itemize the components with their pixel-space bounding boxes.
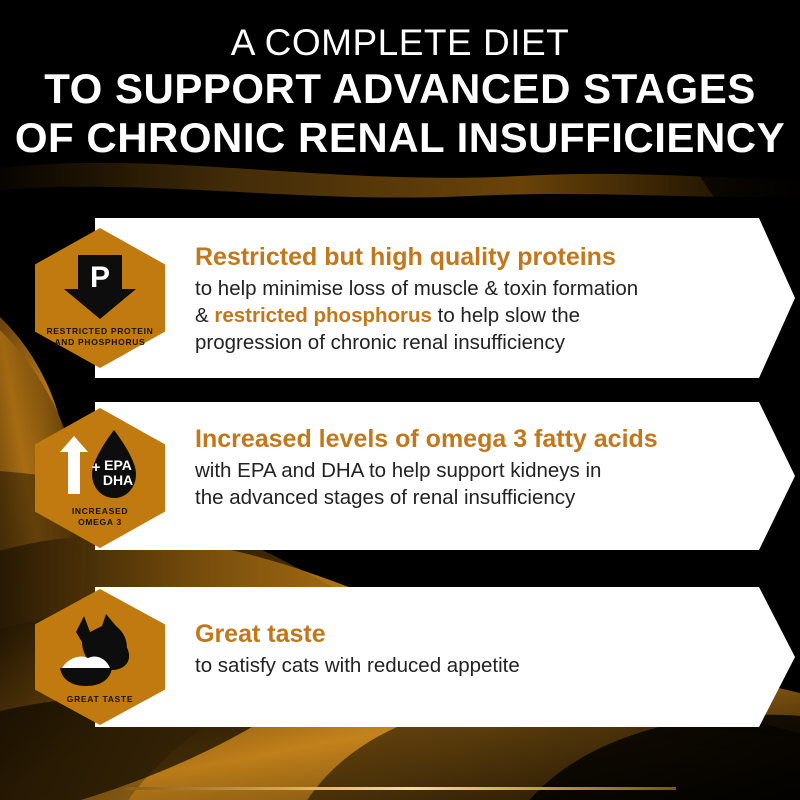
body-line-1: to satisfy cats with reduced appetite xyxy=(195,654,520,677)
badge-restricted-protein-phosphorus: P RESTRICTED PROTEIN AND PHOSPHORUS xyxy=(35,228,165,368)
panel-body: to help minimise loss of muscle & toxin … xyxy=(195,275,715,356)
svg-text:P: P xyxy=(90,261,110,294)
body-line-2-pre: & xyxy=(195,304,214,327)
feature-panel-restricted-protein: P RESTRICTED PROTEIN AND PHOSPHORUS Rest… xyxy=(0,218,800,378)
panel-body: with EPA and DHA to help support kidneys… xyxy=(195,457,735,511)
panel-title: Restricted but high quality proteins xyxy=(195,242,715,273)
body-line-2-accent: restricted phosphorus xyxy=(214,304,432,327)
badge-great-taste: GREAT TASTE xyxy=(35,589,165,725)
body-line-3: the advanced stages of renal insufficien… xyxy=(195,486,575,509)
badge-caption: RESTRICTED PROTEIN AND PHOSPHORUS xyxy=(46,326,153,347)
feature-panel-great-taste: GREAT TASTE Great taste to satisfy cats … xyxy=(0,587,800,727)
increased-omega-3-icon: + EPA DHA xyxy=(52,428,148,502)
badge-caption: GREAT TASTE xyxy=(67,694,133,705)
panel-text-block: Great taste to satisfy cats with reduced… xyxy=(195,619,715,679)
body-line-3: progression of chronic renal insufficien… xyxy=(195,331,565,354)
panel-title: Increased levels of omega 3 fatty acids xyxy=(195,424,735,455)
body-line-1: with EPA and DHA to help support kidneys… xyxy=(195,459,601,482)
panel-text-block: Increased levels of omega 3 fatty acids … xyxy=(195,424,735,511)
great-taste-cat-bowl-icon xyxy=(54,610,146,688)
body-line-2-post: to help slow the xyxy=(432,304,580,327)
page-title: A COMPLETE DIET TO SUPPORT ADVANCED STAG… xyxy=(0,22,800,162)
restricted-protein-phosphorus-icon: P xyxy=(58,249,142,321)
feature-panel-omega-3: + EPA DHA INCREASED OMEGA 3 Increased le… xyxy=(0,402,800,550)
panel-body: to satisfy cats with reduced appetite xyxy=(195,652,715,679)
title-line-2: TO SUPPORT ADVANCED STAGES xyxy=(0,65,800,114)
renal-diet-infographic: A COMPLETE DIET TO SUPPORT ADVANCED STAG… xyxy=(0,0,800,800)
title-line-3: OF CHRONIC RENAL INSUFFICIENCY xyxy=(0,114,800,163)
badge-increased-omega-3: + EPA DHA INCREASED OMEGA 3 xyxy=(35,408,165,548)
panel-title: Great taste xyxy=(195,619,715,650)
badge-caption: INCREASED OMEGA 3 xyxy=(72,506,128,527)
svg-text:+: + xyxy=(92,459,101,476)
title-line-1: A COMPLETE DIET xyxy=(0,22,800,65)
svg-text:EPA: EPA xyxy=(104,457,132,473)
gold-divider-rule xyxy=(126,787,676,790)
panel-text-block: Restricted but high quality proteins to … xyxy=(195,242,715,356)
svg-text:DHA: DHA xyxy=(103,472,133,488)
body-line-1: to help minimise loss of muscle & toxin … xyxy=(195,277,638,300)
